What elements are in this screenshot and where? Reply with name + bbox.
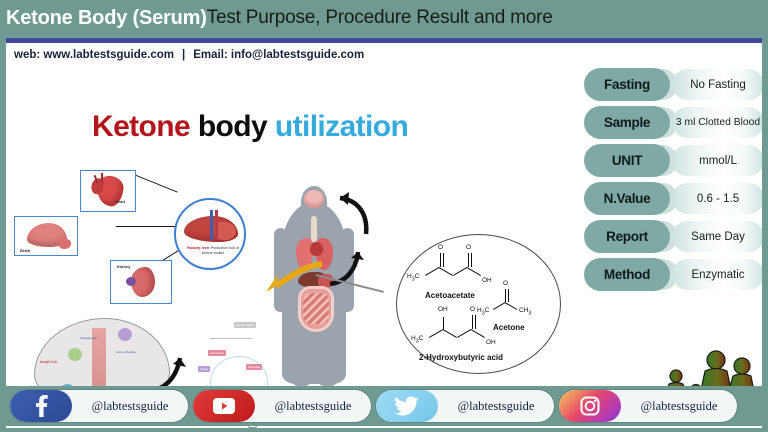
liver-caption-bold: Factory: liver	[187, 246, 210, 250]
row-label-unit: UNIT	[584, 144, 670, 177]
atom-ac-ch3: CH3	[519, 307, 531, 316]
organ-box-kidney: Kidney	[110, 260, 172, 304]
twitter-icon[interactable]	[376, 390, 438, 422]
krebs-node-top: Ketone Bodies	[234, 322, 256, 328]
dbond-aa-1a	[440, 253, 441, 267]
row-label-nvalue: N.Value	[584, 182, 670, 215]
dbond-aa-2a	[468, 253, 469, 267]
atom-aa-h3c: H3C	[407, 273, 419, 282]
youtube-icon[interactable]	[193, 390, 255, 422]
atom-aa-o1: O	[438, 244, 443, 251]
pathway-label-ketonebodies: Ketone Bodies	[116, 350, 136, 354]
liver-caption: Factory: liver Production hub of ketone …	[182, 246, 244, 257]
pathway-label-acetylcoa: Acetyl-CoA	[40, 360, 57, 364]
row-label-report: Report	[584, 220, 670, 253]
bond-hb-4	[471, 329, 485, 338]
dbond-hb-b	[475, 315, 476, 329]
title-word-body: body	[198, 110, 267, 143]
row-value-unit: mmol/L	[672, 145, 762, 176]
dbond-aa-2b	[471, 253, 472, 267]
organ-label-heart: Heart	[115, 199, 125, 204]
table-row: UNIT mmol/L	[584, 144, 762, 177]
krebs-node-citrate: Citrate	[198, 366, 210, 372]
connector-brain	[116, 226, 178, 227]
organ-box-heart: Heart	[80, 170, 136, 212]
content-card: web: www.labtestsguide.com | Email: info…	[6, 38, 762, 428]
title-word-ketone: Ketone	[92, 110, 190, 143]
row-value-sample: 3 ml Clotted Blood	[672, 107, 762, 138]
row-label-fasting: Fasting	[584, 68, 670, 101]
compound-label-hydroxybutyric: 2-Hydroxybutyric acid	[419, 353, 503, 362]
test-details-table: Fasting No Fasting Sample 3 ml Clotted B…	[584, 68, 762, 318]
row-label-sample: Sample	[584, 106, 670, 139]
instagram-icon[interactable]	[559, 390, 621, 422]
atom-hb-oh-top: OH	[438, 306, 448, 313]
dbond-ac-a	[505, 289, 506, 302]
website-link[interactable]: www.labtestsguide.com	[43, 49, 174, 61]
atom-hb-h3c: H3C	[411, 335, 423, 344]
pathway-node-green	[68, 348, 82, 361]
liver-vein-red	[215, 210, 218, 240]
social-handle-facebook[interactable]: @labtestsguide	[72, 399, 188, 414]
liver-vein-blue	[210, 210, 213, 240]
table-row: Method Enzymatic	[584, 258, 762, 291]
atom-hb-o: O	[470, 306, 475, 313]
arrow-outflow-icon	[262, 260, 326, 300]
table-row: N.Value 0.6 - 1.5	[584, 182, 762, 215]
bond-ac-1	[493, 302, 506, 310]
atom-ac-o: O	[503, 280, 508, 287]
web-label: web:	[14, 49, 40, 61]
social-handle-twitter[interactable]: @labtestsguide	[438, 399, 554, 414]
heart-vessel-2	[101, 173, 103, 182]
atom-ac-h3c: H3C	[477, 307, 489, 316]
pathway-node-purple	[118, 328, 132, 341]
bond-aa-2	[439, 267, 453, 276]
bond-aa-4	[467, 267, 481, 276]
table-row: Sample 3 ml Clotted Blood	[584, 106, 762, 139]
krebs-node-acetylcoa: Acetyl-CoA	[208, 350, 226, 356]
infographic-page: Ketone Body (Serum) Test Purpose, Proced…	[0, 0, 768, 432]
email-link[interactable]: info@labtestsguide.com	[231, 49, 364, 61]
atom-aa-oh: OH	[482, 277, 492, 284]
contact-separator: |	[174, 49, 193, 61]
bond-hb-2	[443, 329, 457, 338]
infographic-title: Ketone body utilization	[92, 110, 408, 144]
compound-label-acetone: Acetone	[493, 323, 525, 332]
table-row: Report Same Day	[584, 220, 762, 253]
social-badge-facebook[interactable]: @labtestsguide	[10, 390, 188, 422]
bond-aa-3	[453, 267, 467, 276]
page-subtitle: Test Purpose, Procedure Result and more	[207, 7, 553, 29]
kidney-icon	[131, 267, 155, 297]
organ-box-brain: Brain	[14, 216, 78, 256]
dbond-aa-1b	[443, 253, 444, 267]
bond-aa-1	[425, 267, 439, 276]
page-header: Ketone Body (Serum) Test Purpose, Proced…	[0, 0, 768, 36]
social-handle-youtube[interactable]: @labtestsguide	[255, 399, 371, 414]
dbond-hb-a	[472, 315, 473, 329]
row-value-report: Same Day	[672, 221, 762, 252]
contact-bar: web: www.labtestsguide.com | Email: info…	[6, 43, 762, 66]
krebs-node-succinate: Succinate	[246, 364, 262, 370]
pathway-label-ketogenesis: Ketogenesis	[80, 336, 97, 340]
organ-trachea	[311, 216, 317, 242]
title-word-utilization: utilization	[275, 110, 408, 143]
dbond-ac-b	[508, 289, 509, 302]
social-footer: @labtestsguide @labtestsguide @labtestsg…	[6, 386, 762, 426]
bond-hb-3	[457, 329, 471, 338]
social-badge-instagram[interactable]: @labtestsguide	[559, 390, 737, 422]
bond-hb-1	[429, 329, 443, 338]
arrow-to-brain-icon	[322, 190, 370, 238]
page-title: Ketone Body (Serum)	[6, 7, 207, 30]
row-value-nvalue: 0.6 - 1.5	[672, 183, 762, 214]
row-label-method: Method	[584, 258, 670, 291]
row-value-fasting: No Fasting	[672, 69, 762, 100]
krebs-connector	[210, 338, 252, 339]
organ-brain	[304, 190, 324, 208]
liver-circle: Factory: liver Production hub of ketone …	[174, 198, 246, 270]
chemistry-circle: O O H3C OH Acetoacetate O H3C CH3 Aceton…	[396, 234, 561, 374]
row-value-method: Enzymatic	[672, 259, 762, 290]
brain-icon	[27, 223, 67, 247]
organ-label-brain: Brain	[20, 248, 30, 253]
bond-hb-oh	[443, 317, 444, 329]
atom-hb-oh: OH	[486, 339, 496, 346]
atom-aa-o2: O	[466, 244, 471, 251]
social-badge-youtube[interactable]: @labtestsguide	[193, 390, 371, 422]
arrow-to-lungs-icon	[322, 240, 364, 286]
infographic-illustration: Ketone body utilization Heart Brain	[6, 66, 576, 386]
email-label: Email:	[193, 49, 228, 61]
compound-label-acetoacetate: Acetoacetate	[425, 291, 475, 300]
organ-label-kidney: Kidney	[117, 264, 130, 269]
social-badge-twitter[interactable]: @labtestsguide	[376, 390, 554, 422]
social-handle-instagram[interactable]: @labtestsguide	[621, 399, 737, 414]
bond-ac-2	[505, 302, 518, 310]
facebook-icon[interactable]	[10, 390, 72, 422]
table-row: Fasting No Fasting	[584, 68, 762, 101]
